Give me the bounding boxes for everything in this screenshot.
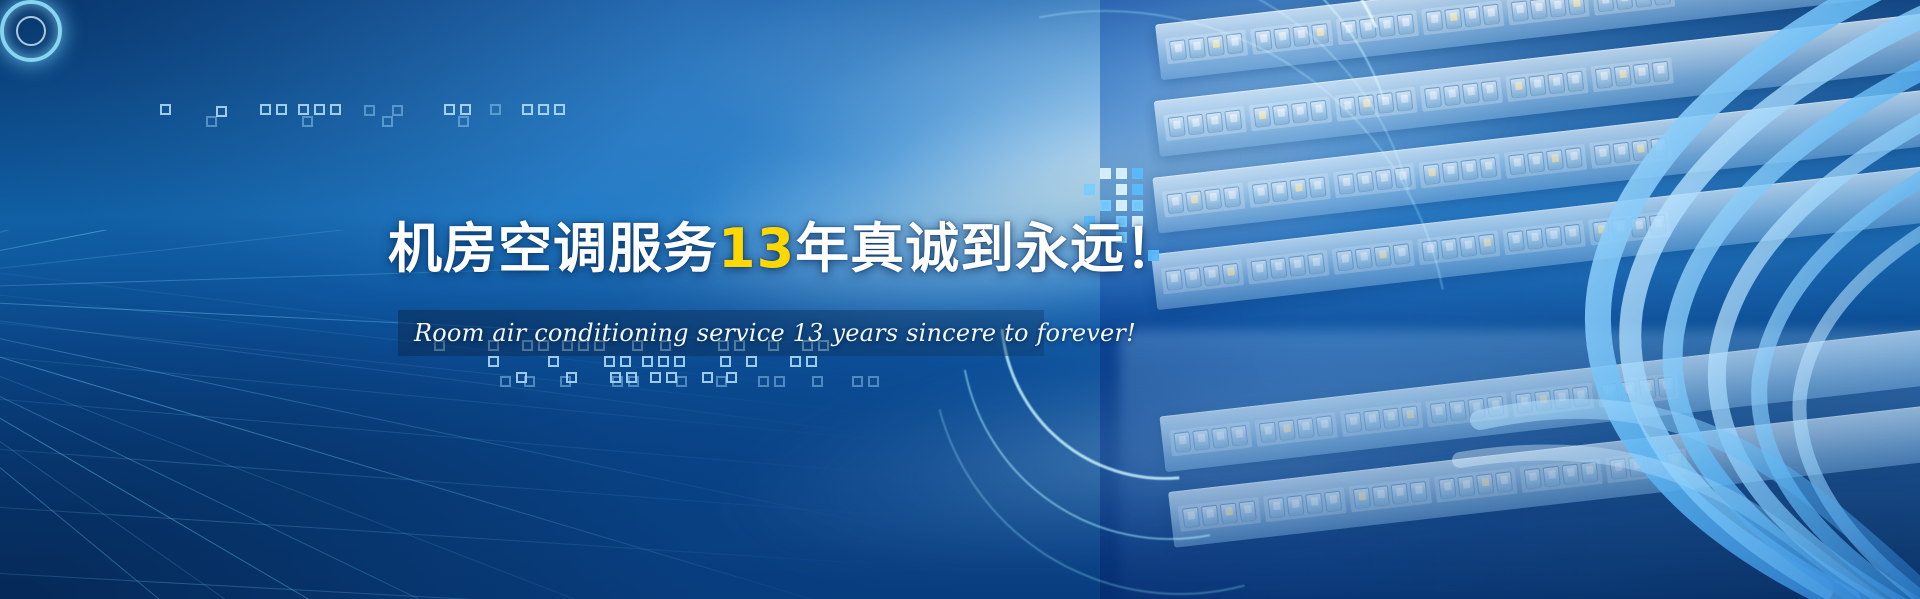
headline-suffix: 年真诚到永远！	[795, 217, 1180, 280]
headline-highlight-number: 13	[718, 217, 795, 280]
hero-banner: 机房空调服务13年真诚到永远！ Room air conditioning se…	[0, 0, 1920, 599]
banner-subtitle: Room air conditioning service 13 years s…	[414, 310, 1044, 356]
banner-headline: 机房空调服务13年真诚到永远！	[388, 204, 1180, 283]
headline-prefix: 机房空调服务	[388, 217, 718, 280]
banner-text-block: 机房空调服务13年真诚到永远！ Room air conditioning se…	[0, 0, 1100, 599]
